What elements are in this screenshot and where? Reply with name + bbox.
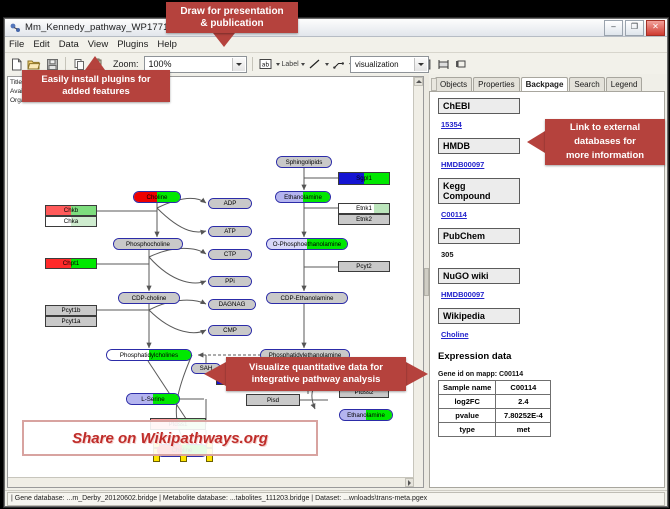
scroll-right-arrow[interactable] — [405, 478, 414, 487]
pathway-node-pcyt1a[interactable]: Pcyt1a — [45, 316, 97, 327]
visualization-combo[interactable]: visualization — [350, 56, 429, 73]
callout-links-arrow — [527, 131, 545, 153]
pathway-node-etnk1[interactable]: Etnk1 — [338, 203, 390, 214]
pathway-node-cmp[interactable]: CMP — [208, 325, 252, 336]
db-header-pubchem: PubChem — [438, 228, 520, 244]
minimize-button[interactable]: – — [604, 20, 623, 36]
node-label: Chpt1 — [63, 260, 80, 267]
node-label: CTP — [224, 251, 236, 258]
pathway-node-l-serine-left[interactable]: L-Serine — [126, 393, 180, 405]
pathway-node-adp[interactable]: ADP — [208, 198, 252, 209]
title-bar: Mm_Kennedy_pathway_WP1771_45176.gpml – ❐… — [5, 19, 667, 37]
expression-key: pvalue — [439, 409, 496, 423]
pathway-node-dagnag[interactable]: DAGNAG — [208, 299, 256, 310]
db-header-chebi: ChEBI — [438, 98, 520, 114]
pathway-node-ethanolamine-top[interactable]: Ethanolamine — [275, 191, 331, 203]
db-header-wikipedia: Wikipedia — [438, 308, 520, 324]
callout-draw-line1: Draw for presentation — [180, 6, 283, 18]
callout-visualize-arrow-left — [204, 362, 226, 386]
pathway-node-choline-top[interactable]: Choline — [133, 191, 181, 203]
menu-item-help[interactable]: Help — [157, 39, 177, 50]
menu-item-plugins[interactable]: Plugins — [117, 39, 148, 50]
expression-table: Sample nameC00114log2FC2.4pvalue7.80252E… — [438, 380, 551, 437]
callout-links-line3: more information — [566, 149, 644, 163]
pathway-node-chka[interactable]: Chka — [45, 216, 97, 227]
close-button[interactable]: ✕ — [646, 20, 665, 36]
share-wikipathways-banner: Share on Wikipathways.org — [22, 420, 318, 456]
screenshot-root: Mm_Kennedy_pathway_WP1771_45176.gpml – ❐… — [0, 0, 670, 509]
callout-plugins-line1: Easily install plugins for — [41, 74, 150, 86]
expression-key: type — [439, 423, 496, 437]
db-value-pubchem: 305 — [441, 250, 454, 259]
text-box-icon[interactable]: ab — [258, 56, 274, 72]
callout-plugins-line2: added features — [62, 86, 130, 98]
chevron-down-icon[interactable] — [232, 58, 245, 71]
node-label: Chkb — [64, 207, 78, 214]
expression-value: 7.80252E-4 — [496, 409, 551, 423]
node-label: L-Serine — [141, 396, 164, 403]
db-link-hmdb[interactable]: HMDB00097 — [441, 160, 484, 169]
menu-bar: File Edit Data View Plugins Help — [5, 37, 667, 53]
callout-draw-line2: & publication — [200, 18, 263, 30]
callout-visualize-arrow-right — [406, 362, 428, 386]
pathway-node-ppi[interactable]: PPi — [208, 276, 252, 287]
tab-properties[interactable]: Properties — [473, 77, 519, 91]
pathway-node-sphingolipids[interactable]: Sphingolipids — [276, 156, 332, 168]
node-label: ATP — [224, 228, 236, 235]
node-label: Pisd — [267, 397, 279, 404]
node-label: Sphingolipids — [286, 159, 323, 166]
pathway-node-chpt1[interactable]: Chpt1 — [45, 258, 97, 269]
node-label: Choline — [147, 194, 168, 201]
expression-key: log2FC — [439, 395, 496, 409]
same-width-icon[interactable] — [436, 56, 452, 72]
scroll-up-arrow[interactable] — [414, 77, 423, 86]
menu-item-file[interactable]: File — [9, 39, 24, 50]
expression-value: 2.4 — [496, 395, 551, 409]
menu-item-data[interactable]: Data — [59, 39, 79, 50]
callout-links-line1: Link to external — [570, 121, 640, 135]
expression-row: typemet — [439, 423, 551, 437]
line-tool[interactable] — [307, 56, 329, 72]
node-label: Ethanolamine — [347, 412, 385, 419]
visualization-value: visualization — [355, 60, 399, 69]
menu-item-edit[interactable]: Edit — [33, 39, 49, 50]
node-label: Etnk1 — [356, 205, 372, 212]
callout-draw-arrow — [213, 33, 235, 47]
gene-id-line: Gene id on mapp: C00114 — [438, 371, 664, 378]
pathway-node-phosphatidylcholines[interactable]: Phosphatidylcholines — [106, 349, 192, 361]
pathway-node-cdp-ethanolamine[interactable]: CDP-Ethanolamine — [266, 292, 348, 304]
selection-handle-7[interactable] — [206, 455, 213, 462]
svg-text:ab: ab — [262, 61, 270, 68]
toolbar-separator-2 — [252, 57, 253, 71]
connector-icon[interactable] — [331, 56, 347, 72]
chevron-down-icon-visualization[interactable] — [414, 58, 427, 71]
pathway-node-chkb[interactable]: Chkb — [45, 205, 97, 216]
expression-row: Sample nameC00114 — [439, 381, 551, 395]
node-label: CDP-Ethanolamine — [281, 295, 334, 302]
expression-value: met — [496, 423, 551, 437]
same-height-icon[interactable] — [454, 56, 470, 72]
node-label: Phosphatidylcholines — [120, 352, 178, 359]
pathway-node-cdp-choline[interactable]: CDP-choline — [118, 292, 180, 304]
callout-external-links: Link to external databases for more info… — [545, 119, 665, 165]
callout-links-line2: databases for — [574, 135, 636, 149]
node-label: Chka — [64, 218, 78, 225]
canvas-vertical-scrollbar[interactable] — [413, 77, 423, 487]
tab-backpage[interactable]: Backpage — [521, 77, 569, 92]
node-label: Sgpl1 — [356, 175, 372, 182]
pathvisio-icon — [9, 22, 21, 34]
callout-visualize-data: Visualize quantitative data for integrat… — [226, 357, 406, 391]
pathway-node-pisd[interactable]: Pisd — [246, 394, 300, 406]
node-label: Pcyt1a — [62, 318, 81, 325]
side-panel-tabs: ObjectsPropertiesBackpageSearchLegend — [429, 76, 665, 91]
db-header-hmdb: HMDB — [438, 138, 520, 154]
share-text: Share on Wikipathways.org — [72, 430, 268, 447]
selection-handle-6[interactable] — [180, 455, 187, 462]
node-label: DAGNAG — [219, 301, 246, 308]
pathway-node-ethanolamine-right[interactable]: Ethanolamine — [339, 409, 393, 421]
node-label: PPi — [225, 278, 235, 285]
pathway-node-ophosphoethanolamine[interactable]: O-Phosphoethanolamine — [266, 238, 348, 250]
db-link-kegg-compound[interactable]: C00114 — [441, 210, 467, 219]
node-label: ADP — [224, 200, 237, 207]
db-link-nugo-wiki[interactable]: HMDB00097 — [441, 290, 484, 299]
tab-objects[interactable]: Objects — [435, 77, 472, 91]
selection-handle-5[interactable] — [153, 455, 160, 462]
expression-data-heading: Expression data — [438, 351, 664, 362]
pathway-node-atp[interactable]: ATP — [208, 226, 252, 237]
db-link-wikipedia[interactable]: Choline — [441, 330, 469, 339]
node-label: O-Phosphoethanolamine — [273, 241, 341, 248]
callout-visualize-line1: Visualize quantitative data for — [249, 362, 383, 374]
node-label: Phosphocholine — [126, 241, 170, 248]
node-label: CMP — [223, 327, 237, 334]
zoom-value: 100% — [149, 59, 172, 69]
callout-install-plugins: Easily install plugins for added feature… — [22, 70, 170, 102]
tab-legend[interactable]: Legend — [606, 77, 643, 91]
node-label: Etnk2 — [356, 216, 372, 223]
expression-value: C00114 — [496, 381, 551, 395]
callout-visualize-line2: integrative pathway analysis — [252, 374, 381, 386]
pathway-node-sgpl1[interactable]: Sgpl1 — [338, 172, 390, 185]
pathway-node-pcyt2[interactable]: Pcyt2 — [338, 261, 390, 272]
window-controls: – ❐ ✕ — [604, 20, 665, 36]
expression-row: log2FC2.4 — [439, 395, 551, 409]
expression-row: pvalue7.80252E-4 — [439, 409, 551, 423]
canvas-horizontal-scrollbar[interactable] — [8, 477, 414, 487]
expression-key: Sample name — [439, 381, 496, 395]
zoom-label: Zoom: — [113, 59, 139, 69]
db-link-chebi[interactable]: 15354 — [441, 120, 462, 129]
callout-draw-for-presentation: Draw for presentation & publication — [166, 2, 298, 33]
node-label: CDP-choline — [132, 295, 167, 302]
menu-item-view[interactable]: View — [88, 39, 108, 50]
pathway-node-etnk2[interactable]: Etnk2 — [338, 214, 390, 225]
tab-search[interactable]: Search — [569, 77, 604, 91]
label-tool[interactable]: Label — [282, 61, 305, 68]
label-tool-text: Label — [282, 61, 299, 68]
pathway-node-phosphocholine[interactable]: Phosphocholine — [113, 238, 183, 250]
pathway-node-ctp[interactable]: CTP — [208, 249, 252, 260]
line-icon[interactable] — [307, 56, 323, 72]
status-text: | Gene database: ...m_Derby_20120602.bri… — [7, 492, 665, 506]
db-header-nugo-wiki: NuGO wiki — [438, 268, 520, 284]
toolbar-separator — [65, 57, 66, 71]
text-box-tool[interactable]: ab — [258, 56, 280, 72]
maximize-button[interactable]: ❐ — [625, 20, 644, 36]
status-bar: | Gene database: ...m_Derby_20120602.bri… — [5, 490, 667, 506]
pathway-node-pcyt1b[interactable]: Pcyt1b — [45, 305, 97, 316]
db-header-kegg-compound: Kegg Compound — [438, 178, 520, 204]
callout-plugins-arrow — [85, 56, 105, 70]
node-label: Pcyt1b — [62, 307, 81, 314]
node-label: Ethanolamine — [284, 194, 322, 201]
node-label: Pcyt2 — [356, 263, 371, 270]
